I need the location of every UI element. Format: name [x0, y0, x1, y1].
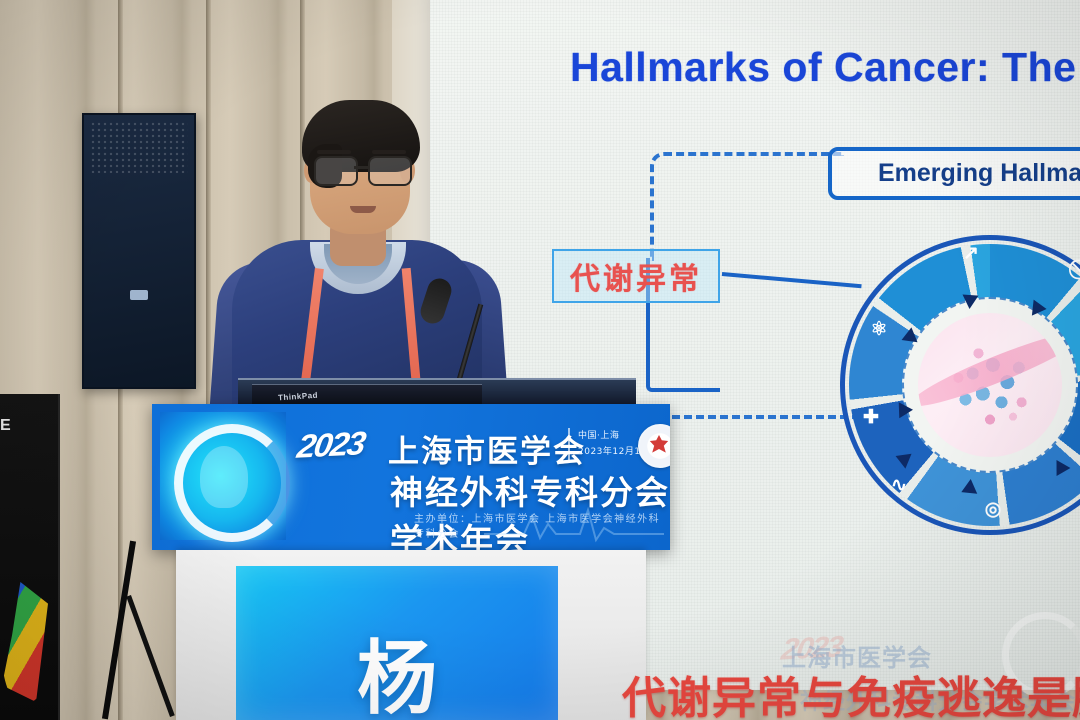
panel-letter: E [0, 416, 11, 436]
emerging-hallmarks-label: Emerging Hallma [878, 159, 1080, 188]
glasses-lens [368, 156, 412, 186]
no-entry-icon: ⃠ [1070, 257, 1080, 283]
inward-arrow [962, 294, 979, 309]
connector-dashed-bottom [660, 415, 860, 419]
tumor-microenvironment-illustration [918, 313, 1062, 457]
glasses-lens [314, 156, 358, 186]
banner-divider [568, 428, 570, 462]
cell-icon: ◎ [980, 497, 1006, 523]
panel-colored-graphic [2, 582, 48, 702]
speaker-nameplate: 杨 辉 [236, 566, 558, 720]
metabolic-abnormality-label: 代谢异常 [570, 254, 702, 298]
inward-arrow [899, 402, 914, 418]
glasses-icon [314, 156, 410, 182]
banner-organization: 上海市医学会 [388, 426, 586, 471]
glasses-bridge [354, 166, 368, 169]
metabolic-abnormality-callout: 代谢异常 [552, 249, 720, 303]
screenshot-root: Hallmarks of Cancer: The Emerging Hallma… [0, 0, 1080, 720]
brain-circle-logo-icon [160, 412, 286, 540]
speaker-brand-badge [130, 290, 148, 300]
wave-icon: ∿ [886, 473, 912, 499]
left-dark-display-panel: E [0, 394, 60, 720]
ecg-waveform-icon [484, 504, 664, 544]
speaker-name: 杨 辉 [236, 614, 558, 720]
banner-year: 2023 [295, 424, 367, 465]
speaker-eyebrow [317, 150, 351, 154]
hallmarks-wheel-diagram: ⚛ ✚ ↗ ⃠ ∿ ⚲ ◎ ∿ [840, 235, 1080, 535]
arrow-up-icon: ↗ [958, 241, 984, 267]
banner-place: 中国·上海 [578, 428, 619, 441]
emerging-hallmarks-box: Emerging Hallma [828, 147, 1080, 200]
atom-icon: ⚛ [866, 317, 892, 343]
inward-arrow [961, 478, 978, 494]
connector-dashed-top [650, 152, 844, 261]
logo-head-silhouette [200, 446, 248, 508]
slide-bottom-headline: 代谢异常与免疫逃逸是肿瘤 [622, 662, 1080, 720]
speaker-figure [232, 92, 482, 422]
medical-association-emblem-icon [638, 424, 670, 468]
podium-banner: 2023 上海市医学会 中国·上海 2023年12月1日 神经外科专科分会学术年… [152, 404, 670, 550]
speaker-mouth [350, 206, 376, 213]
plus-icon: ✚ [858, 405, 884, 431]
slide-title: Hallmarks of Cancer: The [570, 44, 1076, 91]
speaker-eyebrow [372, 150, 406, 154]
pa-speaker-cabinet [82, 113, 196, 389]
